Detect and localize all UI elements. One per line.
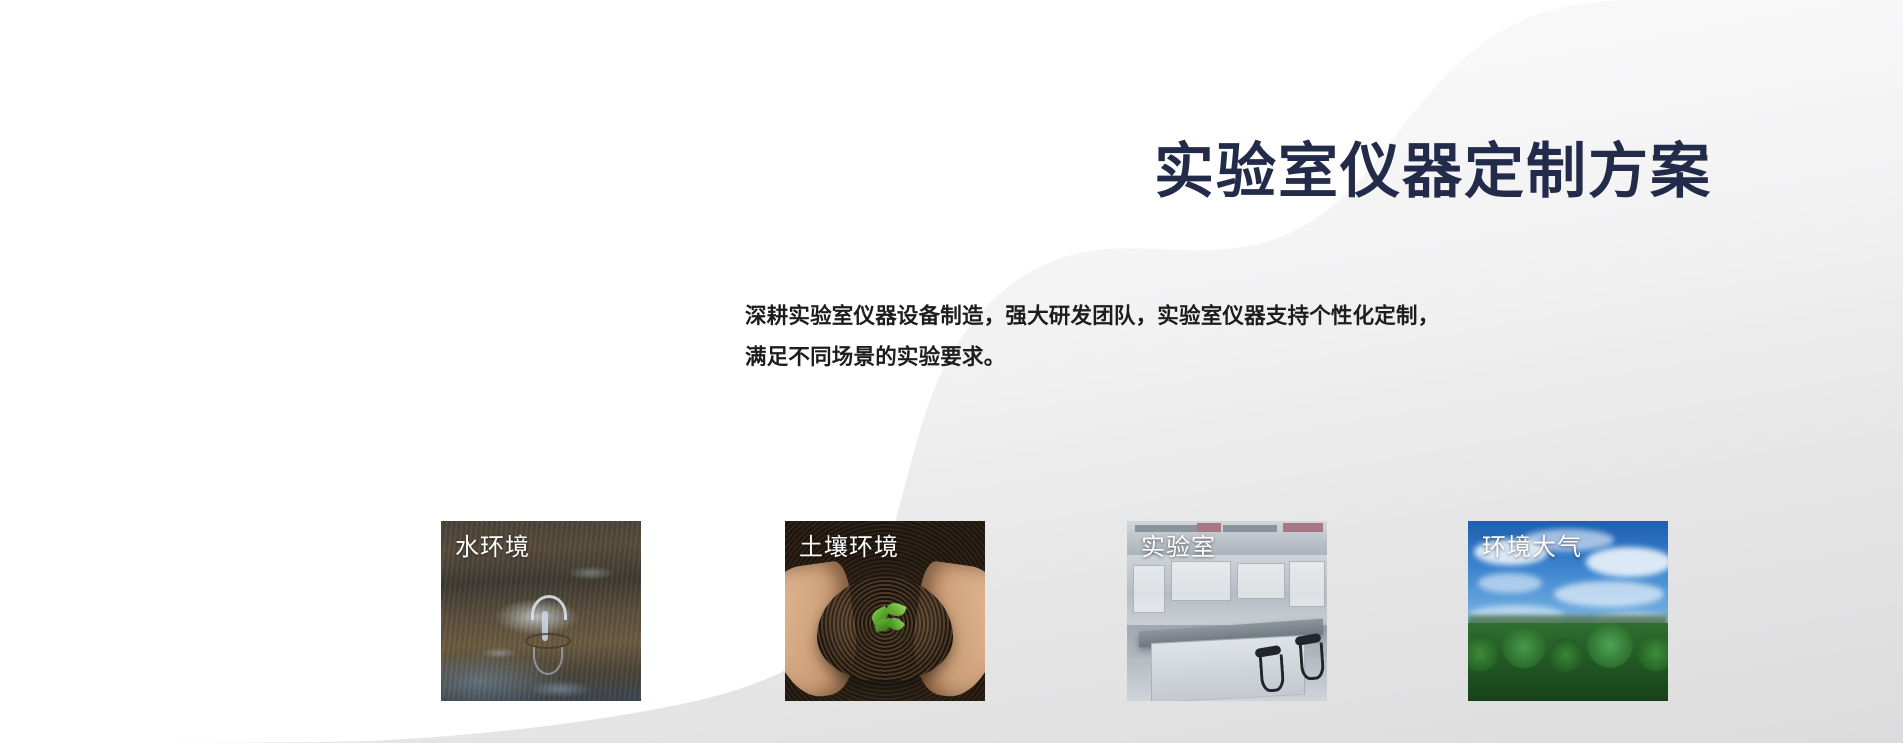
scene-card-laboratory[interactable]: 实验室 [1127,521,1327,701]
lab-stool-detail [1295,635,1325,679]
subtitle-line-2: 满足不同场景的实验要求。 [745,337,1725,378]
scene-card-water[interactable]: 水环境 [441,521,641,701]
scene-card-atmosphere[interactable]: 环境大气 [1468,521,1668,701]
scene-cards-row: 水环境 土壤环境 [441,521,1712,701]
scene-card-soil[interactable]: 土壤环境 [785,521,985,701]
forest-detail [1468,623,1668,701]
scene-card-label: 水环境 [455,533,530,563]
scene-card-label: 实验室 [1141,533,1216,563]
lab-stool-detail [1255,647,1285,691]
water-splash-detail [529,595,563,641]
subtitle-line-1: 深耕实验室仪器设备制造，强大研发团队，实验室仪器支持个性化定制， [745,296,1725,337]
page-title: 实验室仪器定制方案 [0,136,1712,208]
scene-card-label: 环境大气 [1482,533,1582,563]
scene-card-label: 土壤环境 [799,533,899,563]
subtitle: 深耕实验室仪器设备制造，强大研发团队，实验室仪器支持个性化定制， 满足不同场景的… [745,296,1725,378]
hero-banner: 实验室仪器定制方案 深耕实验室仪器设备制造，强大研发团队，实验室仪器支持个性化定… [0,0,1903,743]
lab-wall-detail [1127,555,1327,625]
seedling-detail [871,599,905,635]
